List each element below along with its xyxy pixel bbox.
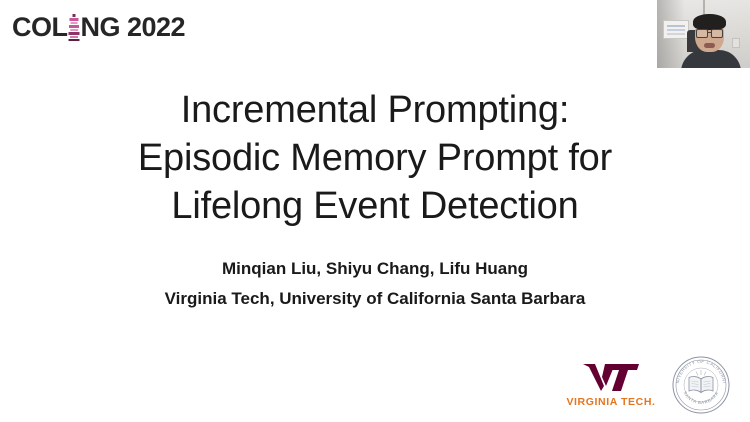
presenter-webcam-video[interactable] <box>657 0 750 68</box>
virginia-tech-vt-mark-icon <box>582 362 640 393</box>
webcam-wall-poster <box>663 20 689 39</box>
presentation-slide: COL NG 2022 Incremental Prompting: Episo… <box>0 0 750 422</box>
title-line-2: Episodic Memory Prompt for <box>0 134 750 182</box>
coling-logo-text-before: COL <box>12 14 68 41</box>
virginia-tech-wordmark: VIRGINIA TECH. <box>566 396 655 408</box>
title-line-1: Incremental Prompting: <box>0 86 750 134</box>
coling-conference-logo: COL NG 2022 <box>12 11 185 43</box>
title-line-3: Lifelong Event Detection <box>0 182 750 230</box>
coling-logo-text-after: NG 2022 <box>81 14 186 41</box>
webcam-wall-outlet <box>732 38 740 48</box>
coling-tower-icon <box>69 14 80 40</box>
affiliation-list: Virginia Tech, University of California … <box>0 288 750 310</box>
uc-santa-barbara-seal: UNIVERSITY OF CALIFORNIA SANTA BARBARA <box>671 355 731 415</box>
webcam-person-hair <box>693 14 726 30</box>
webcam-person-glasses <box>696 29 723 36</box>
slide-title: Incremental Prompting: Episodic Memory P… <box>0 86 750 230</box>
author-list: Minqian Liu, Shiyu Chang, Lifu Huang <box>0 258 750 280</box>
institution-logos: VIRGINIA TECH. <box>565 352 743 418</box>
virginia-tech-logo: VIRGINIA TECH. <box>565 362 657 408</box>
webcam-person-mouth <box>704 43 715 48</box>
